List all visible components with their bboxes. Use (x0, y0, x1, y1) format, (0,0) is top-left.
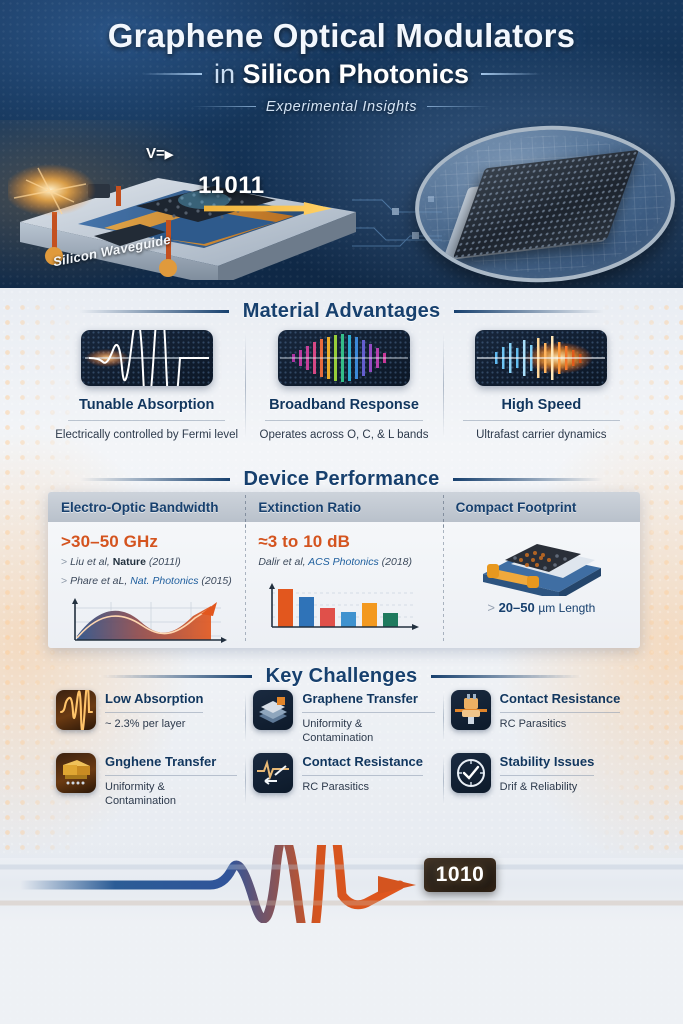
challenge-text: Contact Resistance RC Parasitics (500, 690, 621, 731)
advantage-title: High Speed (449, 397, 634, 413)
heading-rule-left (80, 478, 230, 481)
challenge-desc: RC Parasitics (302, 780, 423, 794)
challenge-card-contact-resistance-2[interactable]: Contact Resistance RC Parasitics (245, 753, 442, 808)
section-heading-device-performance: Device Performance (40, 468, 643, 491)
performance-cell-compact-footprint: > 20–50 µm Length (443, 522, 640, 648)
layer-stack-icon (253, 690, 293, 730)
citation-year: (2018) (382, 556, 412, 568)
section-title: Key Challenges (266, 665, 418, 688)
divider (105, 775, 237, 776)
output-bits-chip: 1010 (424, 858, 496, 892)
divider (68, 420, 225, 421)
citation-authors: Dalir et al, (258, 556, 305, 568)
output-waveform-band (0, 845, 683, 923)
spectrum-icon (278, 330, 410, 386)
challenges-row-1: Low Absorption ~ 2.3% per layer Graphene… (48, 690, 640, 745)
challenge-text: Low Absorption ~ 2.3% per layer (105, 690, 203, 731)
column-header-compact-footprint: Compact Footprint (443, 500, 640, 515)
page-subtitle-line: in Silicon Photonics (214, 59, 469, 90)
citation-year: (2015) (201, 575, 231, 587)
key-challenges-grid: Low Absorption ~ 2.3% per layer Graphene… (48, 690, 640, 816)
advantage-title: Tunable Absorption (54, 397, 239, 413)
challenge-card-graphene-transfer[interactable]: Graphene Transfer Uniformity & Contamina… (245, 690, 442, 745)
waveform-icon (81, 330, 213, 386)
subtitle-row: in Silicon Photonics (0, 59, 683, 90)
clock-check-icon (451, 753, 491, 793)
challenge-card-contact-resistance[interactable]: Contact Resistance RC Parasitics (443, 690, 640, 745)
divider (265, 420, 422, 421)
divider (500, 712, 621, 713)
challenge-title: Low Absorption (105, 691, 203, 707)
extinction-citation: Dalir et al, ACS Photonics (2018) (258, 555, 429, 571)
challenge-text: Gnghene Transfer Uniformity & Contaminat… (105, 753, 237, 808)
challenge-text: Contact Resistance RC Parasitics (302, 753, 423, 794)
challenge-card-low-absorption[interactable]: Low Absorption ~ 2.3% per layer (48, 690, 245, 745)
challenge-desc: Uniformity & Contamination (105, 780, 237, 809)
pulse-icon (475, 330, 607, 386)
tagline-rule-right (427, 106, 491, 107)
challenge-title: Gnghene Transfer (105, 754, 237, 770)
heading-rule-right (453, 478, 603, 481)
challenges-row-2: Gnghene Transfer Uniformity & Contaminat… (48, 753, 640, 808)
voltage-label: V=▶ (146, 145, 173, 162)
heading-rule-right (454, 310, 604, 313)
bandwidth-value: >30–50 GHz (61, 532, 232, 552)
title-domain: Silicon Photonics (243, 59, 470, 89)
divider (500, 775, 595, 776)
advantage-card-broadband-response[interactable]: Broadband Response Operates across O, C,… (245, 330, 442, 444)
signal-trace-icon (253, 753, 293, 793)
divider (463, 420, 620, 421)
footprint-device-icon (475, 534, 607, 596)
infographic-poster: Graphene Optical Modulators in Silicon P… (0, 0, 683, 1024)
wafer-illustration (411, 119, 679, 288)
section-title: Material Advantages (243, 300, 441, 323)
footprint-length-label: > 20–50 µm Length (456, 600, 627, 615)
challenge-card-transfer-tool[interactable]: Gnghene Transfer Uniformity & Contaminat… (48, 753, 245, 808)
section-heading-key-challenges: Key Challenges (40, 665, 643, 688)
advantage-desc: Electrically controlled by Fermi level (54, 428, 239, 444)
divider (105, 712, 203, 713)
tagline-rule-left (192, 106, 256, 107)
citation-journal: Nature (113, 556, 146, 568)
performance-table-body: >30–50 GHz > Liu et al, Nature (2011l) >… (48, 522, 640, 648)
challenge-desc: Uniformity & Contamination (302, 717, 434, 746)
challenge-desc: ~ 2.3% per layer (105, 717, 203, 731)
challenge-text: Stability Issues Drif & Reliability (500, 753, 595, 794)
output-bits-label: 1010 (436, 863, 485, 887)
column-header-extinction-ratio: Extinction Ratio (245, 500, 442, 515)
divider (302, 712, 434, 713)
bandwidth-citation-1: > Liu et al, Nature (2011l) (61, 555, 232, 571)
divider (302, 775, 423, 776)
heading-rule-right (431, 675, 581, 678)
footprint-value: 20–50 (499, 600, 535, 615)
footprint-unit: µm Length (538, 601, 595, 615)
graphene-sheet (453, 150, 639, 258)
modulator-device-illustration: Silicon Waveguide V=▶ 11011 (8, 150, 368, 280)
challenge-title: Contact Resistance (500, 691, 621, 707)
device-performance-panel: Electro-Optic Bandwidth Extinction Ratio… (48, 492, 640, 648)
citation-authors: Phare et aL, (70, 575, 127, 587)
challenge-title: Graphene Transfer (302, 691, 434, 707)
advantage-title: Broadband Response (251, 397, 436, 413)
challenge-desc: Drif & Reliability (500, 780, 595, 794)
extinction-value: ≈3 to 10 dB (258, 532, 429, 552)
section-heading-material-advantages: Material Advantages (40, 300, 643, 323)
performance-table-header: Electro-Optic Bandwidth Extinction Ratio… (48, 492, 640, 522)
citation-journal: ACS Photonics (308, 556, 379, 568)
bandwidth-response-chart (61, 596, 232, 648)
title-rule-right (481, 73, 541, 75)
citation-journal: Nat. Photonics (130, 575, 198, 587)
bandwidth-citation-2: > Phare et aL, Nat. Photonics (2015) (61, 574, 232, 590)
transfer-tool-icon (56, 753, 96, 793)
column-header-bandwidth: Electro-Optic Bandwidth (48, 500, 245, 515)
page-title: Graphene Optical Modulators (0, 18, 683, 55)
tagline-row: Experimental Insights (0, 99, 683, 115)
heading-rule-left (102, 675, 252, 678)
challenge-title: Contact Resistance (302, 754, 423, 770)
advantage-desc: Operates across O, C, & L bands (251, 428, 436, 444)
challenge-text: Graphene Transfer Uniformity & Contamina… (302, 690, 434, 745)
title-preposition: in (214, 59, 235, 89)
contact-plug-icon (451, 690, 491, 730)
citation-authors: Liu et al, (70, 556, 110, 568)
signal-wave-icon (0, 845, 683, 923)
advantage-desc: Ultrafast carrier dynamics (449, 428, 634, 444)
footer-band (0, 924, 683, 1024)
title-rule-left (142, 73, 202, 75)
citation-year: (2011l) (149, 556, 181, 568)
advantage-card-high-speed[interactable]: High Speed Ultrafast carrier dynamics (443, 330, 640, 444)
material-advantages-row: Tunable Absorption Electrically controll… (48, 330, 640, 444)
advantage-card-tunable-absorption[interactable]: Tunable Absorption Electrically controll… (48, 330, 245, 444)
tagline: Experimental Insights (266, 99, 417, 115)
performance-cell-extinction-ratio: ≈3 to 10 dB Dalir et al, ACS Photonics (… (245, 522, 442, 648)
section-title: Device Performance (244, 468, 440, 491)
title-block: Graphene Optical Modulators in Silicon P… (0, 18, 683, 115)
challenge-desc: RC Parasitics (500, 717, 621, 731)
challenge-title: Stability Issues (500, 754, 595, 770)
challenge-card-stability-issues[interactable]: Stability Issues Drif & Reliability (443, 753, 640, 808)
hero-banner: Graphene Optical Modulators in Silicon P… (0, 0, 683, 288)
heading-rule-left (79, 310, 229, 313)
performance-cell-bandwidth: >30–50 GHz > Liu et al, Nature (2011l) >… (48, 522, 245, 648)
absorption-waveform-icon (56, 690, 96, 730)
extinction-ratio-bar-chart (258, 583, 429, 635)
input-bitstream-label: 11011 (198, 172, 265, 200)
